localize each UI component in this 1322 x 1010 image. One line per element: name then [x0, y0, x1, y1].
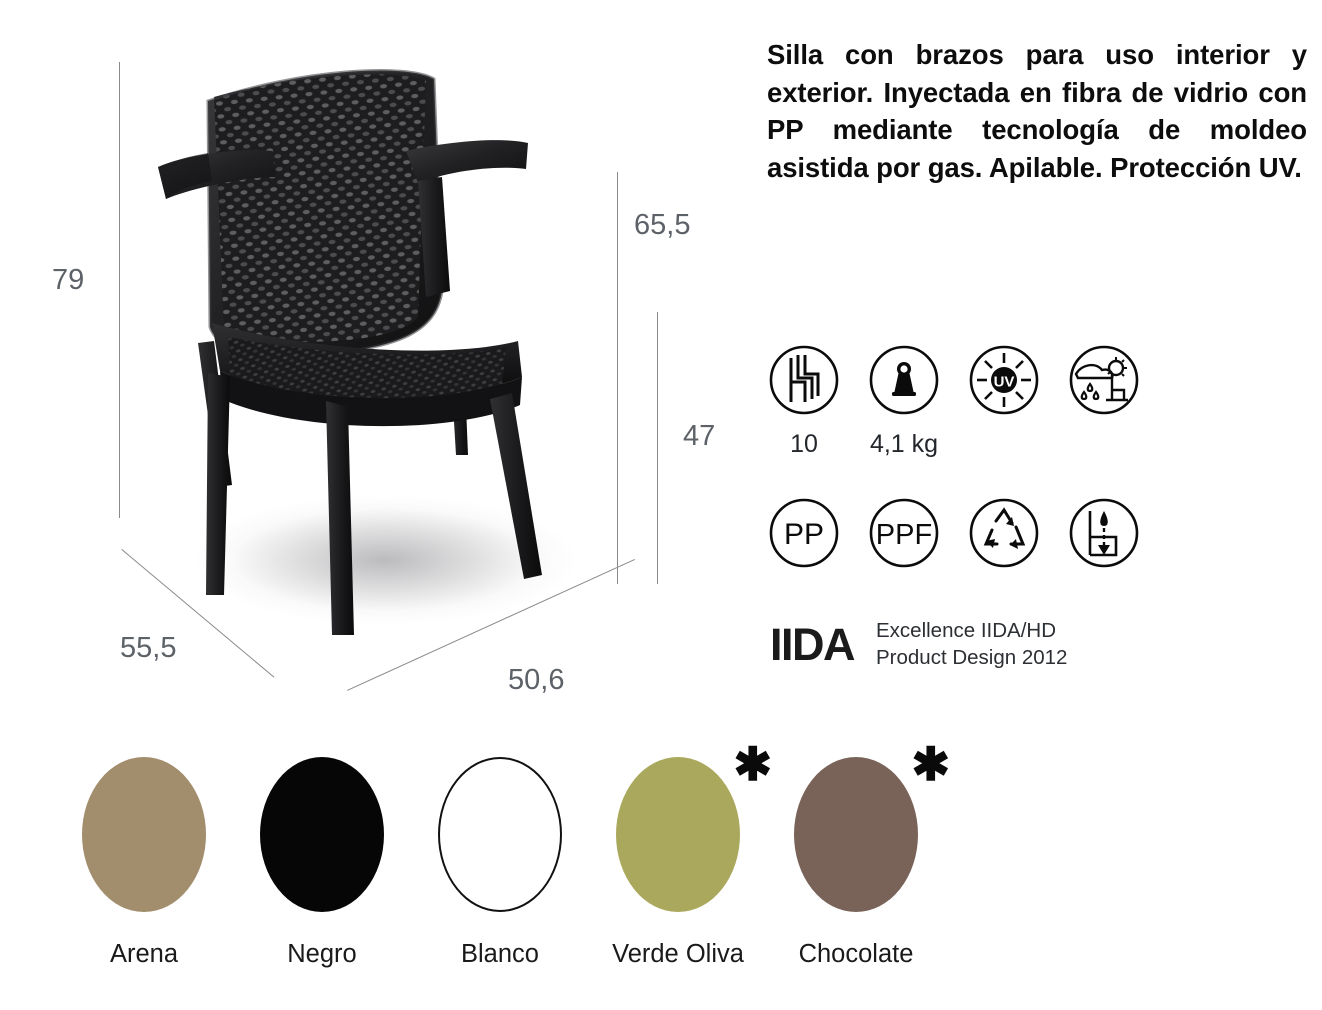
asterisk-icon: ✱: [911, 741, 950, 787]
feature-icons-row-2: PP PPF: [768, 497, 1140, 569]
color-label: Blanco: [461, 940, 539, 969]
dimension-label-width: 50,6: [508, 664, 564, 697]
stackable-count: 10: [790, 430, 818, 459]
uv-protection-icon: UV: [968, 344, 1040, 416]
award-badge: IIDA Excellence IIDA/HD Product Design 2…: [770, 617, 1067, 671]
color-option[interactable]: Negro: [260, 757, 384, 969]
dimension-label-seat-height: 47: [683, 420, 715, 453]
uv-protection-feature: UV: [968, 344, 1040, 459]
svg-text:UV: UV: [994, 374, 1015, 391]
chair-illustration: [150, 55, 600, 655]
color-option[interactable]: ✱Verde Oliva: [616, 757, 740, 969]
pp-material-feature: PP: [768, 497, 840, 569]
weather-resistant-icon: [1068, 344, 1140, 416]
color-label: Verde Oliva: [612, 940, 744, 969]
dimension-line-height-total: [119, 62, 120, 518]
award-line-2: Product Design 2012: [876, 644, 1067, 671]
ppf-material-icon: PPF: [868, 497, 940, 569]
weather-resistant-feature: [1068, 344, 1140, 459]
product-technical-drawing: 79 65,5 47 55,5 50,6: [0, 0, 740, 730]
stackable-feature: 10: [768, 344, 840, 459]
weight-feature: 4,1 kg: [868, 344, 940, 459]
color-option[interactable]: Blanco: [438, 757, 562, 969]
chair-graphic: [150, 55, 600, 655]
color-swatch[interactable]: [260, 757, 384, 912]
dimension-line-seat-height: [657, 312, 658, 584]
svg-text:PPF: PPF: [876, 519, 932, 551]
water-drainage-feature: [1068, 497, 1140, 569]
color-swatch[interactable]: [438, 757, 562, 912]
color-label: Chocolate: [799, 940, 914, 969]
svg-text:PP: PP: [784, 518, 824, 551]
weight-icon: [868, 344, 940, 416]
weight-value: 4,1 kg: [870, 430, 938, 459]
award-text: Excellence IIDA/HD Product Design 2012: [876, 617, 1067, 671]
dimension-label-back-height: 65,5: [634, 209, 690, 242]
color-swatch[interactable]: [82, 757, 206, 912]
iida-logo: IIDA: [770, 622, 854, 667]
ppf-material-feature: PPF: [868, 497, 940, 569]
recyclable-icon: [968, 497, 1040, 569]
color-option[interactable]: Arena: [82, 757, 206, 969]
color-option[interactable]: ✱Chocolate: [794, 757, 918, 969]
pp-material-icon: PP: [768, 497, 840, 569]
recyclable-feature: [968, 497, 1040, 569]
stackable-icon: [768, 344, 840, 416]
color-label: Arena: [110, 940, 178, 969]
color-swatch[interactable]: [616, 757, 740, 912]
color-options: ArenaNegroBlanco✱Verde Oliva✱Chocolate: [82, 757, 918, 969]
asterisk-icon: ✱: [733, 741, 772, 787]
dimension-line-back-height: [617, 172, 618, 584]
award-line-1: Excellence IIDA/HD: [876, 617, 1067, 644]
dimension-label-height-total: 79: [52, 264, 84, 297]
feature-icons-row-1: 10 4,1 kg UV: [768, 344, 1140, 459]
water-drainage-icon: [1068, 497, 1140, 569]
color-swatch[interactable]: [794, 757, 918, 912]
product-description: Silla con brazos para uso interior y ext…: [767, 36, 1307, 187]
color-label: Negro: [287, 940, 356, 969]
